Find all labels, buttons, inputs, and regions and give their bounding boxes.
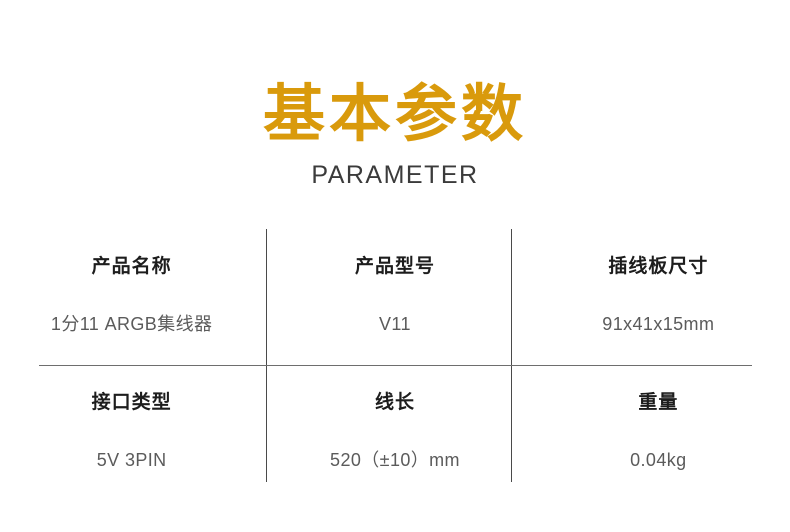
spec-label: 插线板尺寸 bbox=[608, 253, 708, 279]
spec-cell-weight: 重量 0.04kg bbox=[527, 365, 790, 492]
parameter-spec-page: 基本参数 PARAMETER 产品名称 1分11 ARGB集线器 产品型号 V1… bbox=[0, 0, 790, 532]
spec-value: 520（±10）mm bbox=[330, 448, 460, 472]
page-heading: 基本参数 PARAMETER bbox=[0, 78, 790, 190]
spec-cell-interface-type: 接口类型 5V 3PIN bbox=[0, 365, 263, 492]
page-title-en: PARAMETER bbox=[0, 160, 790, 190]
spec-cell-product-model: 产品型号 V11 bbox=[263, 229, 526, 356]
spec-value: 5V 3PIN bbox=[97, 448, 167, 472]
spec-cell-cable-length: 线长 520（±10）mm bbox=[263, 365, 526, 492]
spec-label: 接口类型 bbox=[92, 389, 172, 415]
spec-table: 产品名称 1分11 ARGB集线器 产品型号 V11 插线板尺寸 91x41x1… bbox=[0, 229, 790, 483]
spec-cell-board-size: 插线板尺寸 91x41x15mm bbox=[527, 229, 790, 356]
table-row: 产品名称 1分11 ARGB集线器 产品型号 V11 插线板尺寸 91x41x1… bbox=[0, 229, 790, 356]
spec-value: 91x41x15mm bbox=[602, 312, 714, 336]
table-vertical-divider-1 bbox=[266, 229, 267, 482]
table-row: 接口类型 5V 3PIN 线长 520（±10）mm 重量 0.04kg bbox=[0, 365, 790, 492]
table-vertical-divider-2 bbox=[511, 229, 512, 482]
spec-label: 产品名称 bbox=[92, 253, 172, 279]
spec-value: V11 bbox=[379, 312, 411, 336]
page-title-cn: 基本参数 bbox=[0, 78, 790, 150]
spec-label: 产品型号 bbox=[355, 253, 435, 279]
spec-label: 重量 bbox=[638, 389, 678, 415]
spec-label: 线长 bbox=[375, 389, 415, 415]
spec-cell-product-name: 产品名称 1分11 ARGB集线器 bbox=[0, 229, 263, 356]
spec-value: 1分11 ARGB集线器 bbox=[51, 312, 213, 336]
table-horizontal-divider bbox=[39, 365, 752, 366]
spec-value: 0.04kg bbox=[630, 448, 686, 472]
